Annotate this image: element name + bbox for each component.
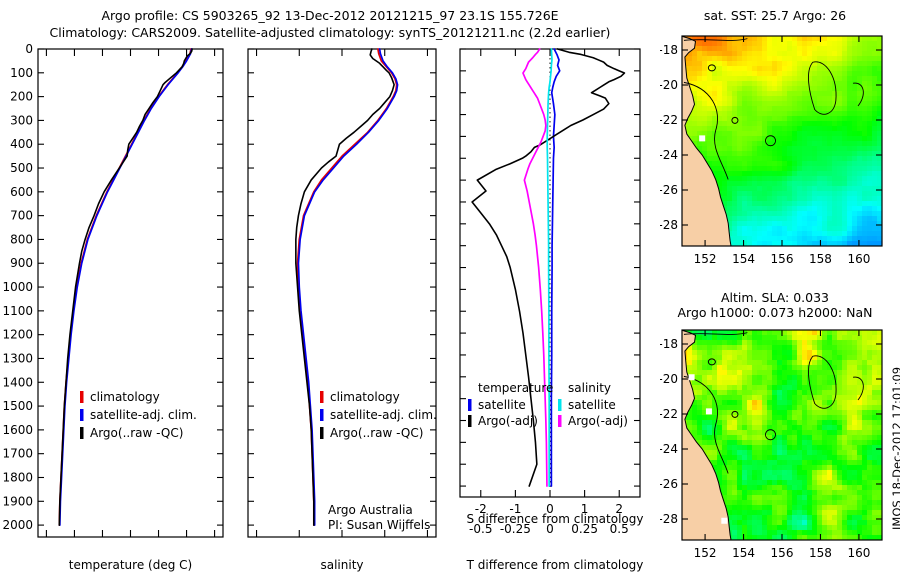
svg-text:climatology: climatology [90, 390, 160, 404]
svg-text:156: 156 [771, 252, 794, 266]
svg-text:1200: 1200 [2, 328, 33, 342]
svg-text:-26: -26 [660, 183, 678, 197]
svg-text:500: 500 [10, 161, 33, 175]
svg-text:1300: 1300 [2, 351, 33, 365]
svg-text:1700: 1700 [2, 447, 33, 461]
svg-text:158: 158 [809, 546, 832, 560]
page-title-line1: Argo profile: CS 5903265_92 13-Dec-2012 … [0, 8, 660, 23]
svg-text:700: 700 [10, 209, 33, 223]
svg-text:-24: -24 [660, 148, 678, 162]
salinity-panel: 3434.53535.536climatologysatellite-adj. … [230, 40, 460, 540]
svg-text:Argo(-adj): Argo(-adj) [478, 414, 538, 428]
sla-map-title-line1: Altim. SLA: 0.033 [660, 290, 890, 305]
sla-map-title-line2: Argo h1000: 0.073 h2000: NaN [655, 305, 895, 320]
t-difference-axis-label: T difference from climatology [460, 558, 650, 572]
sst-map-title: sat. SST: 25.7 Argo: 26 [660, 8, 890, 23]
svg-text:1800: 1800 [2, 470, 33, 484]
svg-text:154: 154 [732, 546, 755, 560]
svg-text:-28: -28 [660, 512, 678, 526]
svg-text:1100: 1100 [2, 304, 33, 318]
svg-text:satellite: satellite [478, 398, 526, 412]
svg-text:Argo(-adj): Argo(-adj) [568, 414, 628, 428]
svg-text:156: 156 [771, 546, 794, 560]
svg-text:160: 160 [847, 546, 870, 560]
svg-text:satellite-adj. clim.: satellite-adj. clim. [330, 408, 437, 422]
svg-text:-22: -22 [660, 407, 678, 421]
temperature-panel: 0100200300400500600700800900100011001200… [0, 40, 250, 540]
attribution-line2: PI: Susan Wijffels [328, 518, 430, 532]
svg-text:satellite-adj. clim.: satellite-adj. clim. [90, 408, 197, 422]
svg-text:-24: -24 [660, 442, 678, 456]
svg-text:100: 100 [10, 66, 33, 80]
page-title-line2: Climatology: CARS2009. Satellite-adjuste… [0, 25, 660, 40]
svg-text:800: 800 [10, 232, 33, 246]
imos-credit: IMOS 18-Dec-2012 17:01:09 [890, 367, 900, 530]
svg-text:-22: -22 [660, 113, 678, 127]
svg-text:152: 152 [694, 252, 717, 266]
svg-text:1900: 1900 [2, 494, 33, 508]
attribution-line1: Argo Australia [328, 503, 413, 517]
svg-text:-20: -20 [660, 78, 678, 92]
svg-text:158: 158 [809, 252, 832, 266]
sst-map: 152154156158160-18-20-22-24-26-28 [660, 28, 895, 290]
svg-text:-26: -26 [660, 477, 678, 491]
svg-text:400: 400 [10, 137, 33, 151]
svg-text:200: 200 [10, 90, 33, 104]
svg-text:1500: 1500 [2, 399, 33, 413]
svg-text:satellite: satellite [568, 398, 616, 412]
svg-text:2000: 2000 [2, 518, 33, 532]
svg-text:temperature: temperature [478, 381, 553, 395]
salinity-axis-label: salinity [248, 558, 436, 572]
svg-text:salinity: salinity [568, 381, 611, 395]
s-difference-axis-label: S difference from climatology [460, 512, 650, 526]
svg-text:900: 900 [10, 256, 33, 270]
svg-text:-18: -18 [660, 43, 678, 57]
svg-text:1400: 1400 [2, 375, 33, 389]
svg-text:-20: -20 [660, 372, 678, 386]
svg-text:600: 600 [10, 185, 33, 199]
svg-text:1000: 1000 [2, 280, 33, 294]
svg-text:Argo(..raw -QC): Argo(..raw -QC) [330, 426, 423, 440]
svg-text:152: 152 [694, 546, 717, 560]
svg-text:-28: -28 [660, 218, 678, 232]
svg-text:154: 154 [732, 252, 755, 266]
svg-text:300: 300 [10, 113, 33, 127]
svg-text:Argo(..raw -QC): Argo(..raw -QC) [90, 426, 183, 440]
svg-text:1600: 1600 [2, 423, 33, 437]
svg-text:climatology: climatology [330, 390, 400, 404]
svg-text:160: 160 [847, 252, 870, 266]
sla-map: 152154156158160-18-20-22-24-26-28 [660, 322, 895, 580]
temperature-axis-label: temperature (deg C) [38, 558, 223, 572]
difference-panel: -2-1012-0.5-0.2500.250.5temperaturesatel… [450, 40, 660, 540]
svg-text:-18: -18 [660, 337, 678, 351]
svg-text:0: 0 [25, 42, 33, 56]
